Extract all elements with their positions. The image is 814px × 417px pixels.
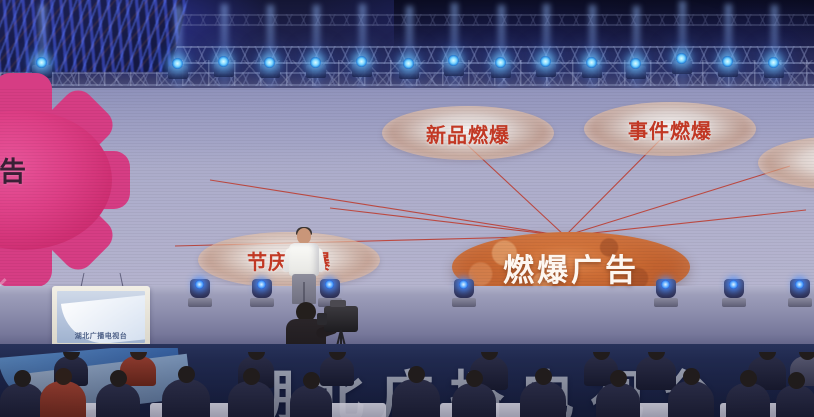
- center-node-label: 燃爆广告: [503, 245, 639, 290]
- floor-moving-light: [250, 279, 274, 309]
- audience-head: [466, 370, 483, 387]
- audience-head: [481, 352, 498, 360]
- audience-member: [320, 356, 354, 386]
- light-base: [250, 298, 274, 307]
- audience-member: [636, 356, 676, 390]
- light-lens: [325, 280, 334, 289]
- audience-member: [290, 385, 332, 417]
- light-base: [722, 298, 746, 307]
- ceiling-spotlight: [264, 57, 275, 68]
- audience-head: [535, 368, 552, 385]
- audience-head: [610, 370, 627, 387]
- spotlight-beam: [406, 6, 413, 92]
- ceiling-spotlight: [310, 57, 321, 68]
- light-lens: [661, 280, 670, 289]
- audience-member: [96, 383, 140, 417]
- audience-head: [408, 366, 425, 383]
- ceiling-spotlight: [356, 56, 367, 67]
- camera-viewfinder: [330, 300, 346, 307]
- light-base: [452, 298, 476, 307]
- node-label: 事件燃爆: [628, 115, 712, 144]
- ceiling-spotlight: [630, 58, 641, 69]
- audience-head: [248, 352, 265, 360]
- audience-head: [683, 368, 700, 385]
- ceiling-spotlight: [586, 57, 597, 68]
- ceiling-spotlight: [495, 57, 506, 68]
- audience-member: [776, 385, 814, 417]
- video-camera: [324, 306, 358, 332]
- audience-member: [392, 379, 440, 417]
- light-lens: [795, 280, 804, 289]
- audience-member: [452, 383, 496, 417]
- spotlight-beam: [267, 5, 274, 92]
- ceiling-spotlight: [218, 56, 229, 67]
- led-screen: 爆式广告 优惠燃爆 节庆燃爆 新品燃爆 事件燃爆 营 燃爆广告: [0, 88, 814, 288]
- audience-member: [0, 383, 44, 417]
- light-base: [654, 298, 678, 307]
- audience-head: [63, 352, 80, 360]
- audience-head: [178, 366, 195, 383]
- spotlight-beam: [451, 3, 458, 92]
- ceiling-spotlight: [403, 58, 414, 69]
- spotlight-beam: [313, 5, 320, 92]
- spotlight-beam: [589, 5, 596, 92]
- audience-head: [14, 370, 31, 387]
- audience-head: [799, 352, 814, 360]
- spotlight-beam: [359, 4, 366, 92]
- audience-head: [759, 352, 776, 360]
- audience-member: [40, 381, 86, 417]
- light-base: [788, 298, 812, 307]
- ceiling-spotlight: [172, 58, 183, 69]
- spotlight-beam: [175, 6, 182, 92]
- audience-member: [726, 383, 770, 417]
- spotlight-beam: [679, 1, 686, 92]
- gear-label: 爆式广告: [0, 150, 142, 189]
- floor-moving-light: [788, 279, 812, 309]
- node-ellipse-newproduct: 新品燃爆: [382, 106, 554, 160]
- light-base: [188, 298, 212, 307]
- audience-member: [596, 383, 640, 417]
- light-lens: [729, 280, 738, 289]
- monitor-caption: 湖北广播电视台: [57, 331, 145, 341]
- audience-head: [593, 352, 610, 360]
- node-label: 新品燃爆: [426, 119, 510, 148]
- audience-member: [162, 379, 210, 417]
- spotlight-beam: [543, 4, 550, 92]
- floor-moving-light: [654, 279, 678, 309]
- spotlight-beam: [771, 5, 778, 92]
- ceiling-spotlight: [768, 57, 779, 68]
- ceiling-spotlight: [448, 55, 459, 66]
- spotlight-beam: [633, 6, 640, 92]
- spotlight-beam: [498, 5, 505, 92]
- monitor-panel: 湖北广播电视台: [57, 291, 145, 343]
- audience-head: [130, 352, 147, 360]
- monitor-bezel: 湖北广播电视台: [52, 286, 150, 348]
- light-lens: [195, 280, 204, 289]
- presenter-person: [283, 228, 325, 302]
- spotlight-beam: [725, 4, 732, 92]
- audience-head: [243, 368, 260, 385]
- audience-head: [740, 370, 757, 387]
- ceiling-spotlight: [722, 56, 733, 67]
- audience-head: [329, 352, 346, 360]
- ceiling-spotlight: [540, 56, 551, 67]
- audience-member: [228, 381, 274, 417]
- ceiling-spotlight: [676, 53, 687, 64]
- floor-moving-light: [722, 279, 746, 309]
- light-lens: [459, 280, 468, 289]
- audience-member: [668, 381, 714, 417]
- audience-head: [648, 352, 665, 360]
- presenter-shirt: [289, 243, 319, 276]
- audience-head: [110, 370, 127, 387]
- audience-member: [520, 381, 566, 417]
- conference-stage-photo: 爆式广告 优惠燃爆 节庆燃爆 新品燃爆 事件燃爆 营 燃爆广告: [0, 0, 814, 417]
- audience-head: [303, 372, 320, 389]
- left-lighting-rig: [0, 0, 190, 72]
- node-ellipse-event: 事件燃爆: [584, 102, 756, 156]
- audience-head: [55, 368, 72, 385]
- light-lens: [257, 280, 266, 289]
- floor-moving-light: [452, 279, 476, 309]
- presenter-head: [297, 228, 311, 244]
- ceiling-spotlight: [36, 57, 47, 68]
- floor-moving-light: [188, 279, 212, 309]
- ceiling-truss-area: [0, 0, 814, 92]
- audience-head: [788, 372, 805, 389]
- spotlight-beam: [221, 4, 228, 92]
- audience-rows: [0, 352, 814, 417]
